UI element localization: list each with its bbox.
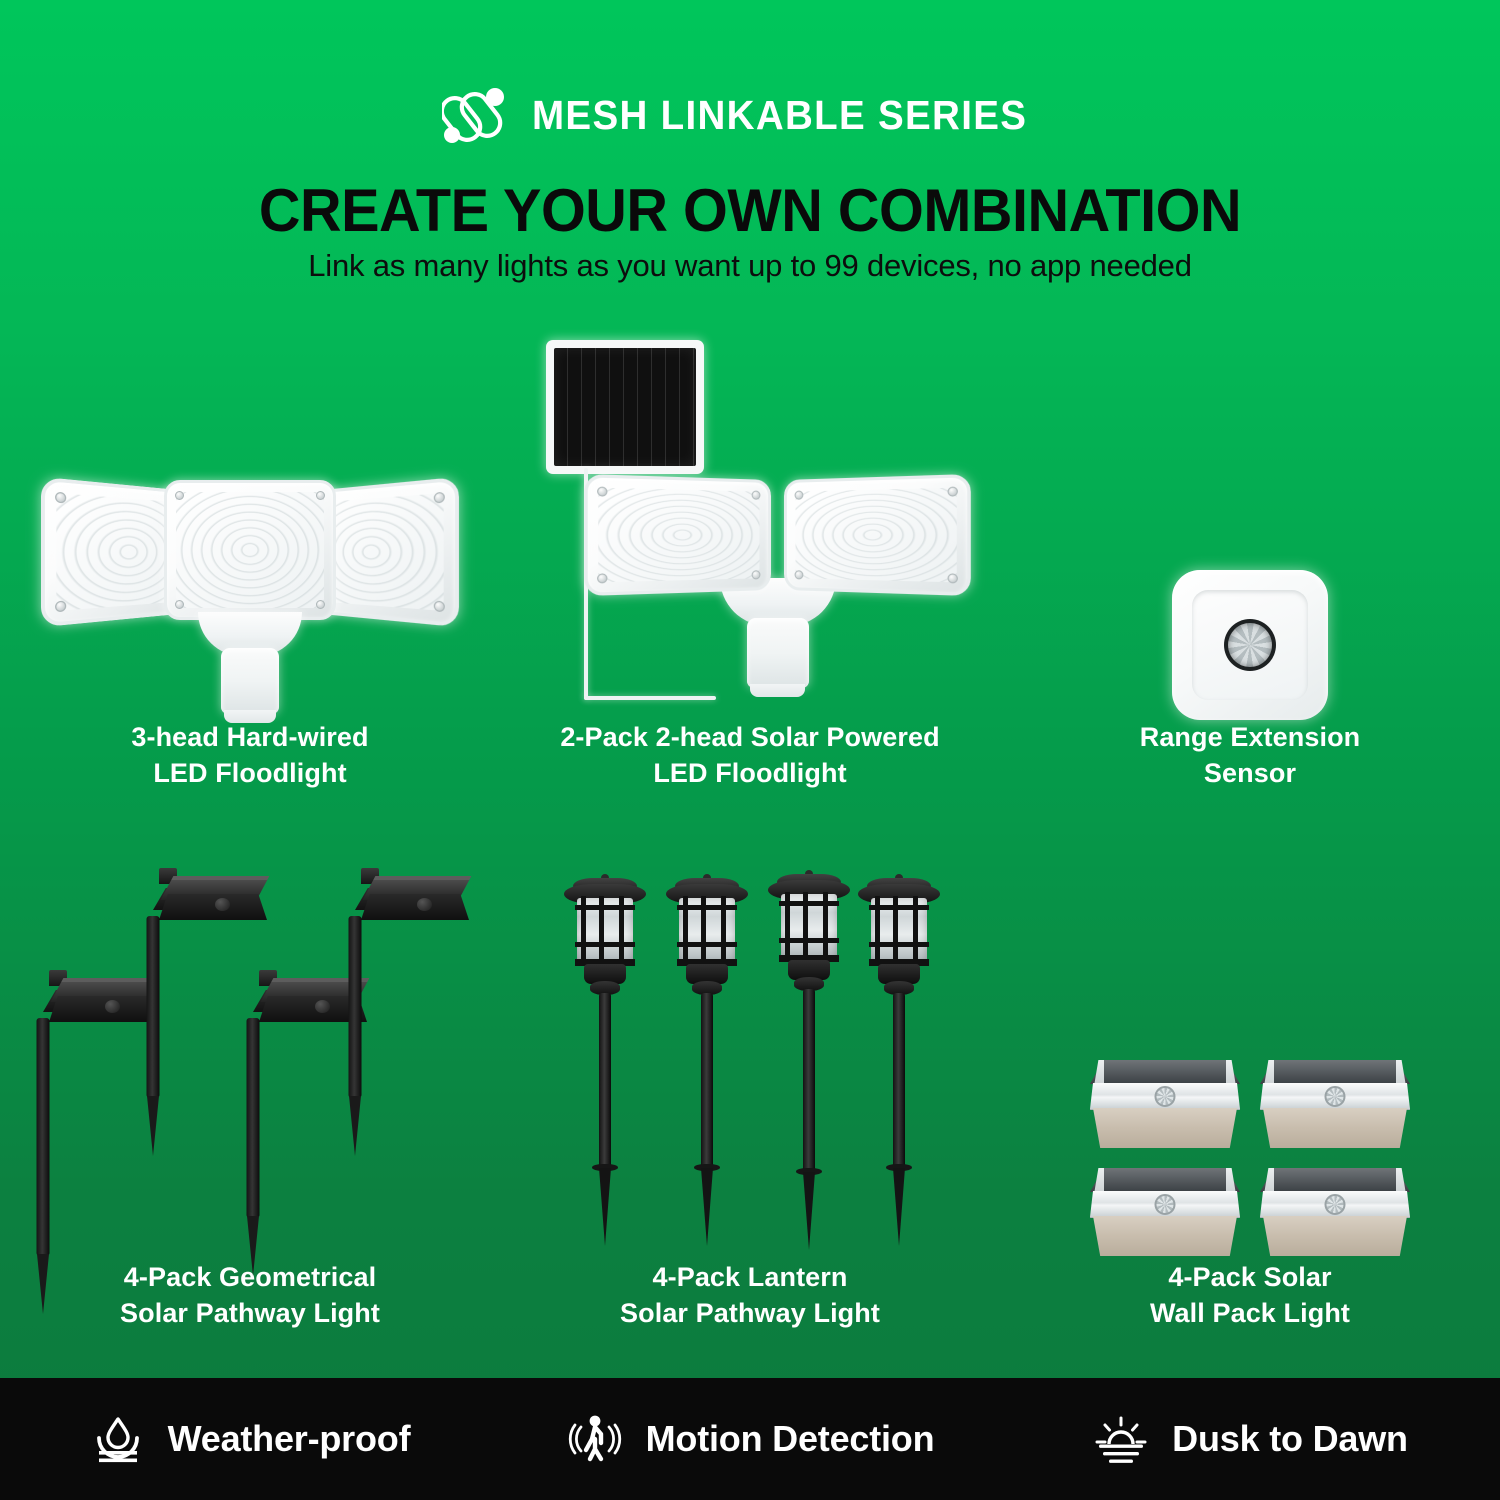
lens-knob (315, 1000, 330, 1013)
solar-panel-top (1260, 1060, 1410, 1084)
lens-pattern (176, 492, 324, 608)
water-drop-icon (90, 1411, 146, 1467)
caption-line-2: Sensor (1140, 756, 1361, 792)
floodlight-head-left (584, 474, 771, 596)
light-head (43, 970, 163, 1028)
feature-label: Motion Detection (646, 1418, 935, 1460)
pir-sensor-icon (1155, 1086, 1176, 1107)
sunrise-horizon-icon (1092, 1411, 1150, 1467)
caption-line-2: Wall Pack Light (1150, 1296, 1350, 1332)
floodlight-head-right (784, 474, 971, 596)
solar-panel-top (1090, 1060, 1240, 1084)
lantern-pathway-light-group (550, 860, 950, 1260)
page-subtitle: Link as many lights as you want up to 99… (0, 248, 1500, 284)
product-row-bottom: 4-Pack Geometrical Solar Pathway Light (0, 830, 1500, 1350)
product-card-three-head-hardwired-floodlight[interactable]: 3-head Hard-wired LED Floodlight (0, 330, 500, 810)
lens-pattern (598, 488, 759, 583)
motion-sensor-module (221, 648, 279, 714)
lantern-cage (779, 892, 839, 962)
mesh-node-top (486, 88, 504, 106)
wall-pack-unit (1090, 1168, 1240, 1260)
product-card-lantern-pathway-light[interactable]: 4-Pack Lantern Solar Pathway Light (500, 830, 1000, 1350)
product-image-geometrical-pathway-light (0, 830, 500, 1260)
lantern-cage (677, 896, 737, 966)
product-card-geometrical-pathway-light[interactable]: 4-Pack Geometrical Solar Pathway Light (0, 830, 500, 1350)
product-card-solar-wall-pack-light[interactable]: 4-Pack Solar Wall Pack Light (1000, 830, 1500, 1350)
caption-line-1: 2-Pack 2-head Solar Powered (560, 720, 939, 756)
walking-person-motion-icon (566, 1410, 624, 1468)
light-diffuser (1093, 1216, 1237, 1256)
product-caption: 4-Pack Solar Wall Pack Light (1150, 1260, 1350, 1332)
product-image-range-extension-sensor (1000, 330, 1500, 720)
range-extension-sensor-illustration (1172, 570, 1328, 720)
series-label: MESH LINKABLE SERIES (532, 92, 1027, 139)
caption-line-1: 4-Pack Lantern (620, 1260, 880, 1296)
product-image-two-head-solar-floodlight (500, 330, 1000, 720)
two-head-floodlight (595, 480, 960, 720)
solar-floodlight-illustration (540, 340, 960, 720)
wall-pack-light-group (1090, 1060, 1410, 1260)
lens-knob (215, 898, 230, 911)
light-diffuser (1263, 1216, 1407, 1256)
feature-label: Dusk to Dawn (1172, 1418, 1408, 1460)
caption-line-1: 3-head Hard-wired (131, 720, 368, 756)
caption-line-2: LED Floodlight (560, 756, 939, 792)
feature-bar: Weather-proof Motion Detection (0, 1378, 1500, 1500)
three-head-floodlight-illustration (50, 480, 450, 720)
wall-pack-unit (1090, 1060, 1240, 1152)
light-diffuser (1093, 1108, 1237, 1148)
series-badge: MESH LINKABLE SERIES (0, 84, 1500, 146)
mesh-node-bottom (444, 127, 460, 143)
product-row-top: 3-head Hard-wired LED Floodlight (0, 330, 1500, 810)
product-caption: Range Extension Sensor (1140, 720, 1361, 792)
light-diffuser (1263, 1108, 1407, 1148)
caption-line-2: LED Floodlight (131, 756, 368, 792)
solar-panel-top (1090, 1168, 1240, 1192)
mesh-link-icon (442, 84, 508, 146)
feature-label: Weather-proof (168, 1418, 411, 1460)
feature-dusk-to-dawn: Dusk to Dawn (1000, 1411, 1500, 1467)
light-head (355, 868, 475, 926)
lens-knob (417, 898, 432, 911)
motion-sensor-module (747, 618, 809, 688)
wall-pack-unit (1260, 1168, 1410, 1260)
pir-sensor-icon (1325, 1194, 1346, 1215)
lens-knob (105, 1000, 120, 1013)
product-image-solar-wall-pack-light (1000, 830, 1500, 1260)
lens-pattern (796, 488, 957, 583)
lantern-cage (869, 896, 929, 966)
light-head (153, 868, 273, 926)
product-caption: 3-head Hard-wired LED Floodlight (131, 720, 368, 792)
solar-panel-top (1260, 1168, 1410, 1192)
page-title: CREATE YOUR OWN COMBINATION (30, 176, 1470, 245)
product-caption: 4-Pack Lantern Solar Pathway Light (620, 1260, 880, 1332)
product-caption: 2-Pack 2-head Solar Powered LED Floodlig… (560, 720, 939, 792)
pir-lens (1228, 623, 1272, 667)
product-infographic: MESH LINKABLE SERIES CREATE YOUR OWN COM… (0, 0, 1500, 1500)
floodlight-head-center (164, 480, 336, 620)
product-card-two-head-solar-floodlight[interactable]: 2-Pack 2-head Solar Powered LED Floodlig… (500, 330, 1000, 810)
product-image-lantern-pathway-light (500, 830, 1000, 1260)
feature-motion-detection: Motion Detection (500, 1410, 1000, 1468)
caption-line-1: 4-Pack Solar (1150, 1260, 1350, 1296)
wall-pack-unit (1260, 1060, 1410, 1152)
product-card-range-extension-sensor[interactable]: Range Extension Sensor (1000, 330, 1500, 810)
solar-cells (554, 348, 696, 466)
lantern-cage (575, 896, 635, 966)
pir-dome-icon (1224, 619, 1276, 671)
pir-sensor-icon (1325, 1086, 1346, 1107)
caption-line-2: Solar Pathway Light (120, 1296, 380, 1332)
solar-panel (546, 340, 704, 474)
caption-line-1: Range Extension (1140, 720, 1361, 756)
geometrical-pathway-light-group (35, 860, 465, 1260)
product-image-three-head-floodlight (0, 330, 500, 720)
feature-weather-proof: Weather-proof (0, 1411, 500, 1467)
caption-line-2: Solar Pathway Light (620, 1296, 880, 1332)
pir-sensor-icon (1155, 1194, 1176, 1215)
